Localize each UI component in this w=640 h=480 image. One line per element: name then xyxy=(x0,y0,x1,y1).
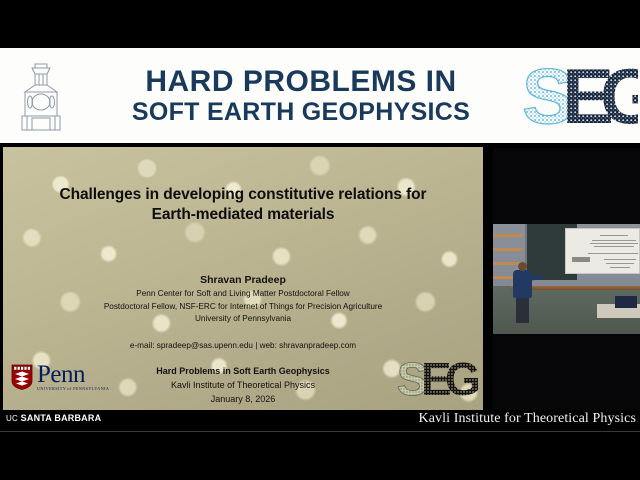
slide-title: Challenges in developing constitutive re… xyxy=(19,185,467,225)
footer-divider xyxy=(0,431,640,432)
svg-text:G: G xyxy=(445,355,481,403)
author-block: Shravan Pradeep Penn Center for Soft and… xyxy=(19,273,467,325)
laptop xyxy=(615,296,637,308)
screen-root: HARD PROBLEMS IN SOFT EARTH GEOPHYSICS xyxy=(0,0,640,480)
wall-shelf xyxy=(493,248,523,251)
footer-bar: UC SANTA BARBARA Kavli Institute for The… xyxy=(0,410,640,432)
speaker-body xyxy=(513,270,532,298)
presentation-slide[interactable]: Challenges in developing constitutive re… xyxy=(3,147,483,414)
ucsb-wordmark: UC SANTA BARBARA xyxy=(6,413,101,423)
slide-title-line1: Challenges in developing constitutive re… xyxy=(19,185,467,205)
wall-shelf xyxy=(493,234,523,237)
svg-text:G: G xyxy=(600,55,638,137)
speaker-video-feed[interactable] xyxy=(493,148,640,410)
storke-tower-icon xyxy=(0,48,82,143)
penn-logo: Penn UNIVERSITY of PENNSYLVANIA xyxy=(11,360,116,394)
ucsb-name: SANTA BARBARA xyxy=(21,413,102,423)
author-name: Shravan Pradeep xyxy=(19,273,467,288)
ucsb-prefix: UC xyxy=(6,414,18,423)
penn-wordmark: Penn UNIVERSITY of PENNSYLVANIA xyxy=(37,363,109,391)
penn-wordmark-subtext: UNIVERSITY of PENNSYLVANIA xyxy=(37,387,109,391)
banner-title-line1: HARD PROBLEMS IN xyxy=(145,67,456,97)
banner-title-block: HARD PROBLEMS IN SOFT EARTH GEOPHYSICS xyxy=(82,67,520,125)
speaker-legs xyxy=(516,297,529,323)
seg-logo-small: S E G xyxy=(397,355,483,403)
projection-screen xyxy=(565,228,640,274)
kitp-wordmark: Kavli Institute for Theoretical Physics xyxy=(419,411,636,427)
speaker-head xyxy=(518,262,527,271)
author-affiliation-2: Postdoctoral Fellow, NSF-ERC for Interne… xyxy=(19,301,467,313)
penn-wordmark-text: Penn xyxy=(37,363,109,386)
screen-penn-logo xyxy=(572,257,590,262)
penn-shield-icon xyxy=(11,364,33,390)
banner-title-line2: SOFT EARTH GEOPHYSICS xyxy=(132,100,470,125)
lecture-hall-scene xyxy=(493,224,640,334)
seg-logo: S E G xyxy=(520,48,640,143)
author-contact: e-mail: spradeep@sas.upenn.edu | web: sh… xyxy=(19,341,467,350)
slide-title-line2: Earth-mediated materials xyxy=(19,205,467,225)
author-affiliation-3: University of Pennsylvania xyxy=(19,313,467,325)
author-affiliation-1: Penn Center for Soft and Living Matter P… xyxy=(19,288,467,300)
conference-header-banner: HARD PROBLEMS IN SOFT EARTH GEOPHYSICS xyxy=(0,48,640,143)
